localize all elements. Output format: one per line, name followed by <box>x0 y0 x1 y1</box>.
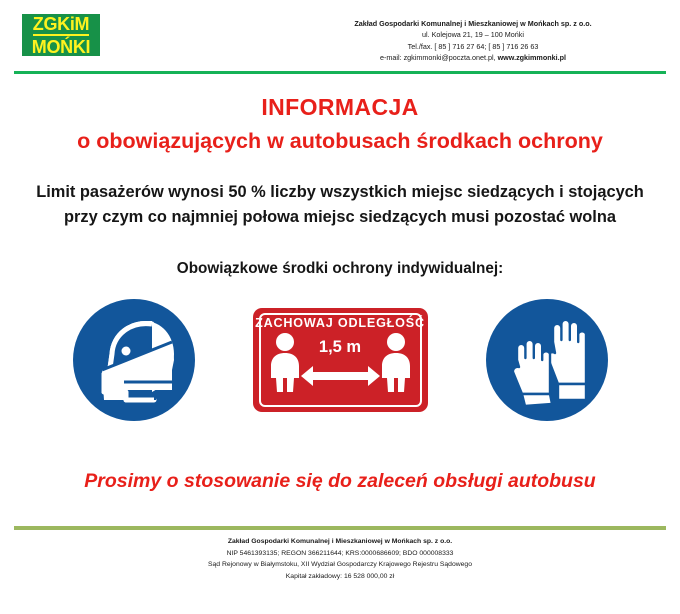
distance-sign-body: 1,5 m <box>253 330 428 396</box>
gloves-sign <box>486 299 608 421</box>
page-title: INFORMACJA <box>0 94 680 122</box>
footer-divider <box>14 526 666 530</box>
footer-company-name: Zakład Gospodarki Komunalnej i Mieszkani… <box>0 536 680 548</box>
person-left-icon <box>271 333 299 392</box>
glove-front <box>512 340 551 406</box>
header-address: ul. Kolejowa 21, 19 – 100 Mońki <box>308 29 638 40</box>
footer-share-capital: Kapitał zakładowy: 16 528 000,00 zł <box>0 571 680 583</box>
logo-text-primary: ZGKiM <box>33 15 90 36</box>
glove-back <box>547 320 585 400</box>
double-arrow-icon <box>301 366 380 386</box>
header-website: www.zgkimmonki.pl <box>498 53 566 62</box>
distance-sign: ZACHOWAJ ODLEGŁOŚĆ 1,5 m <box>253 308 428 412</box>
mask-sign <box>73 299 195 421</box>
passenger-limit-block: Limit pasażerów wynosi 50 % liczby wszys… <box>0 180 680 230</box>
distance-sign-caption: ZACHOWAJ ODLEGŁOŚĆ <box>255 316 425 330</box>
header-contact-block: Zakład Gospodarki Komunalnej i Mieszkani… <box>308 18 638 64</box>
poster-footer: Zakład Gospodarki Komunalnej i Mieszkani… <box>0 536 680 583</box>
pictogram-row: ZACHOWAJ ODLEGŁOŚĆ 1,5 m <box>0 294 680 426</box>
passenger-limit-line-1: Limit pasażerów wynosi 50 % liczby wszys… <box>36 183 644 201</box>
poster-header: ZGKiM MOŃKI Zakład Gospodarki Komunalnej… <box>0 0 680 72</box>
passenger-limit-line-2: przy czym co najmniej połowa miejsc sied… <box>0 205 680 230</box>
footer-registration-ids: NIP 5461393135; REGON 366211644; KRS:000… <box>0 548 680 560</box>
header-divider <box>14 71 666 74</box>
distance-figures-graphic <box>253 330 428 396</box>
page-subtitle: o obowiązujących w autobusach środkach o… <box>0 128 680 155</box>
header-company-name: Zakład Gospodarki Komunalnej i Mieszkani… <box>308 18 638 29</box>
closing-message: Prosimy o stosowanie się do zaleceń obsł… <box>0 470 680 493</box>
header-email-line: e-mail: zgkimmonki@poczta.onet.pl, www.z… <box>308 52 638 63</box>
header-email: e-mail: zgkimmonki@poczta.onet.pl, <box>380 53 498 62</box>
footer-court-registry: Sąd Rejonowy w Białymstoku, XII Wydział … <box>0 559 680 571</box>
eye-dot <box>121 347 130 356</box>
logo-text-secondary: MOŃKI <box>32 38 91 56</box>
title-block: INFORMACJA o obowiązujących w autobusach… <box>0 94 680 154</box>
ppe-subheading: Obowiązkowe środki ochrony indywidualnej… <box>0 260 680 278</box>
person-right-icon <box>382 333 410 392</box>
header-phone: Tel./fax. [ 85 ] 716 27 64; [ 85 ] 716 2… <box>308 41 638 52</box>
company-logo: ZGKiM MOŃKI <box>22 14 100 56</box>
protective-gloves-icon <box>495 308 599 412</box>
face-mask-icon <box>82 308 186 412</box>
